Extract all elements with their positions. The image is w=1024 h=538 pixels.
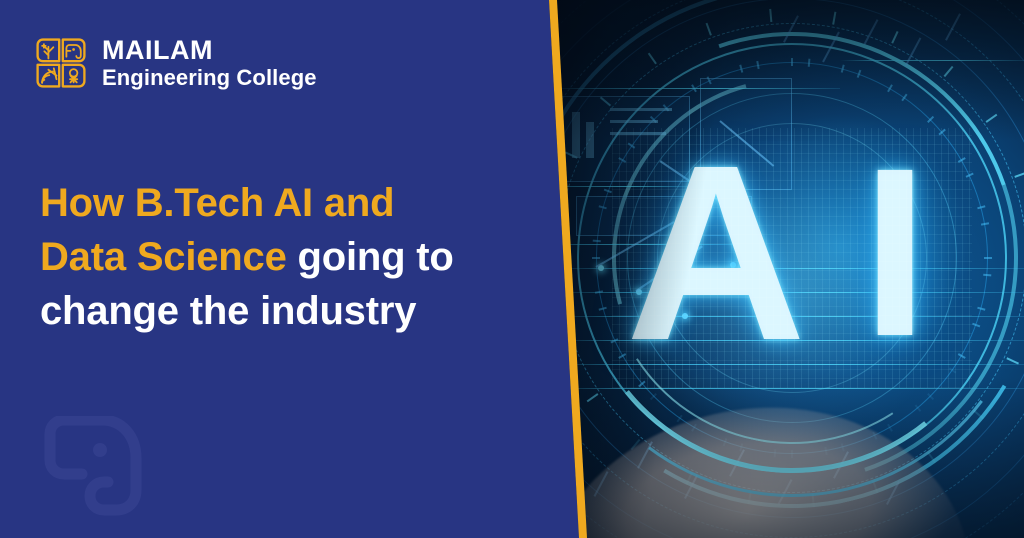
headline-plain-line-3: change the industry bbox=[40, 289, 416, 333]
headline-accent-line-2: Data Science bbox=[40, 235, 287, 279]
photo-scene: A I bbox=[540, 0, 1024, 538]
mailam-college-logo-mark bbox=[34, 36, 88, 90]
logo-wordmark: MAILAM Engineering College bbox=[102, 36, 317, 91]
headline: How B.Tech AI and Data Science going to … bbox=[40, 176, 540, 338]
headline-accent-line-1: How B.Tech AI and bbox=[40, 181, 394, 225]
headline-plain-line-2: going to bbox=[287, 235, 454, 279]
college-logo[interactable]: MAILAM Engineering College bbox=[34, 36, 317, 91]
logo-name-secondary: Engineering College bbox=[102, 65, 317, 90]
promotional-banner: A I bbox=[0, 0, 1024, 538]
logo-name-primary: MAILAM bbox=[102, 36, 317, 64]
